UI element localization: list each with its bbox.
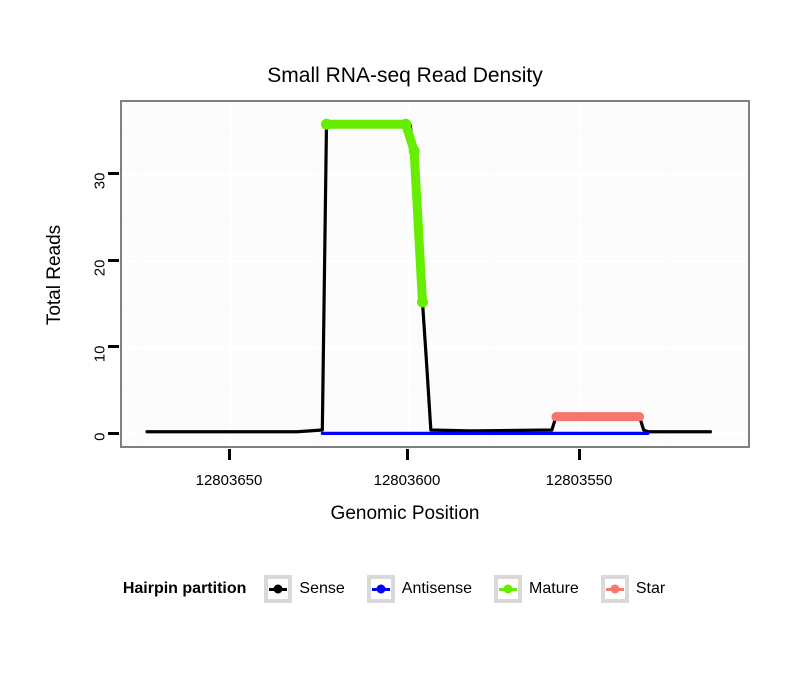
y-tick-label-10: 10 [92, 346, 109, 386]
x-tick-mark-12803600 [406, 449, 409, 460]
y-tick-mark-20 [108, 259, 119, 262]
y-tick-label-20: 20 [92, 260, 109, 300]
data-point-mature [400, 119, 411, 130]
chart-legend: Hairpin partition Sense Antisense Mature [0, 575, 810, 603]
data-series-layer [122, 102, 748, 446]
series-line-mature [326, 124, 422, 302]
chart-title: Small RNA-seq Read Density [0, 64, 810, 88]
legend-dot-antisense [376, 585, 385, 594]
legend-key-star-icon [601, 575, 629, 603]
legend-item-antisense[interactable]: Antisense [367, 575, 484, 603]
legend-item-star[interactable]: Star [601, 575, 677, 603]
data-point-star [635, 412, 644, 421]
x-tick-mark-12803550 [578, 449, 581, 460]
legend-item-mature[interactable]: Mature [494, 575, 591, 603]
legend-key-sense-icon [264, 575, 292, 603]
legend-dot-sense [274, 585, 283, 594]
series-mature [321, 119, 428, 308]
legend-title: Hairpin partition [123, 580, 247, 598]
x-tick-label-12803550: 12803550 [509, 472, 649, 489]
y-tick-mark-0 [108, 432, 119, 435]
legend-label-star: Star [636, 580, 665, 598]
data-point-mature [409, 145, 420, 156]
x-tick-label-12803650: 12803650 [159, 472, 299, 489]
data-point-star [552, 412, 561, 421]
y-tick-label-30: 30 [92, 173, 109, 213]
data-point-mature [321, 119, 332, 130]
y-axis-title: Total Reads [44, 205, 66, 345]
legend-key-antisense-icon [367, 575, 395, 603]
x-axis-title: Genomic Position [0, 503, 810, 525]
plot-panel [120, 100, 750, 448]
data-point-mature [417, 297, 428, 308]
legend-dot-star [610, 585, 619, 594]
y-tick-label-0: 0 [92, 433, 109, 473]
series-line-sense [147, 124, 710, 432]
series-sense [147, 124, 710, 432]
chart-container: Small RNA-seq Read Density Total Reads 0… [0, 0, 810, 690]
legend-label-sense: Sense [299, 580, 344, 598]
legend-label-antisense: Antisense [402, 580, 472, 598]
x-tick-mark-12803650 [228, 449, 231, 460]
legend-dot-mature [504, 585, 513, 594]
series-star [552, 412, 644, 421]
y-tick-mark-10 [108, 345, 119, 348]
legend-label-mature: Mature [529, 580, 579, 598]
legend-item-sense[interactable]: Sense [264, 575, 356, 603]
y-tick-mark-30 [108, 172, 119, 175]
legend-key-mature-icon [494, 575, 522, 603]
x-tick-label-12803600: 12803600 [337, 472, 477, 489]
